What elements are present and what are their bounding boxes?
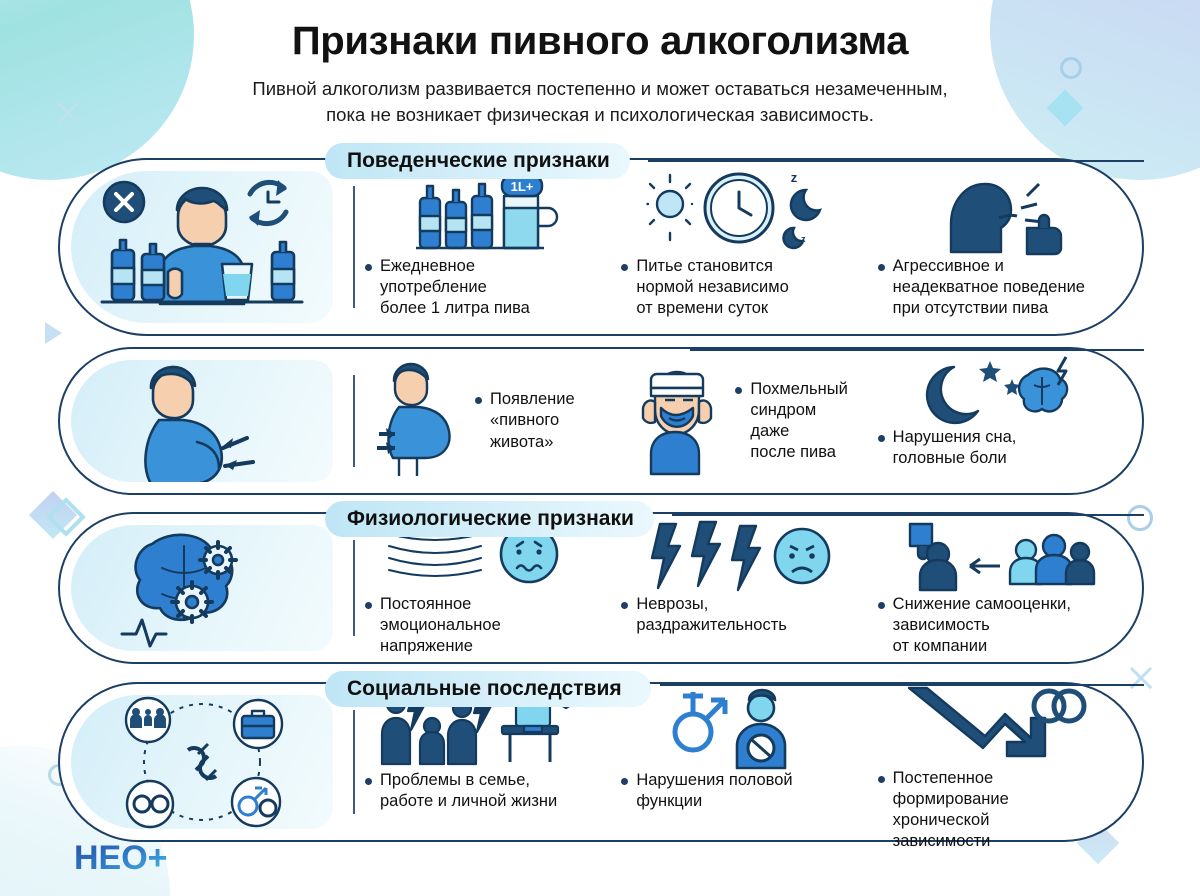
bullet-dot-icon bbox=[621, 778, 628, 785]
bullet-text: Питье становится нормой независимо от вр… bbox=[636, 256, 788, 319]
bullet-dot-icon bbox=[735, 387, 742, 394]
section-columns-behavioral: 1L+ Ежедневное употребление более 1 литр… bbox=[355, 160, 1142, 334]
logo-text: НЕО+ bbox=[74, 839, 168, 877]
list-item: Неврозы, раздражительность bbox=[611, 514, 867, 662]
list-item: Появление «пивного живота» bbox=[355, 349, 611, 493]
man-with-beer-bottles-and-repeat-cycle-illustration bbox=[82, 172, 322, 322]
section-title-behavioral: Поведенческие признаки bbox=[325, 143, 630, 179]
bullet-text: Нарушения половой функции bbox=[636, 770, 792, 812]
hangover-headache-man-icon bbox=[621, 362, 729, 480]
lightning-angry-face-icon bbox=[644, 518, 834, 594]
bullet-dot-icon bbox=[878, 776, 885, 783]
list-item: Агрессивное и неадекватное поведение при… bbox=[868, 160, 1124, 334]
sleep-z-badge-label: z bbox=[791, 170, 798, 185]
bullet-item: Проблемы в семье, работе и личной жизни bbox=[365, 770, 557, 812]
list-item: Нарушения половой функции bbox=[611, 684, 867, 840]
gender-symbol-blocked-person-icon bbox=[649, 686, 829, 770]
beer-bottles-and-one-liter-mug-icon: 1L+ bbox=[408, 168, 558, 256]
bullet-dot-icon bbox=[475, 397, 482, 404]
section-rule-psychological bbox=[672, 514, 1144, 516]
bullet-text: Неврозы, раздражительность bbox=[636, 594, 787, 636]
infographic-page: Признаки пивного алкоголизма Пивной алко… bbox=[0, 0, 1200, 896]
bullet-item: Ежедневное употребление более 1 литра пи… bbox=[365, 256, 530, 319]
section-rule-physiological bbox=[690, 349, 1144, 351]
moon-stars-brain-icon bbox=[916, 351, 1076, 427]
bullet-text: Появление «пивного живота» bbox=[490, 389, 575, 452]
section-illustration-physiological bbox=[71, 360, 333, 482]
section-rule-social bbox=[660, 684, 1144, 686]
bullet-text: Похмельный синдром даже после пива bbox=[750, 379, 857, 463]
bullet-dot-icon bbox=[878, 264, 885, 271]
list-item: Нарушения сна, головные боли bbox=[868, 349, 1124, 493]
bullet-item: Неврозы, раздражительность bbox=[621, 594, 787, 636]
bullet-text: Постепенное формирование хронической зав… bbox=[893, 768, 1009, 852]
bullet-dot-icon bbox=[878, 602, 885, 609]
clock-day-night-icon: z z bbox=[644, 166, 834, 256]
bullet-text: Постоянное эмоциональное напряжение bbox=[380, 594, 501, 657]
bullet-text: Агрессивное и неадекватное поведение при… bbox=[893, 256, 1085, 319]
brain-with-gears-and-pulse-illustration bbox=[92, 525, 312, 651]
list-item: z z Питье становится нормой независимо о… bbox=[611, 160, 867, 334]
bullet-text: Снижение самооценки, зависимость от комп… bbox=[893, 594, 1071, 657]
section-illustration-psychological bbox=[71, 525, 333, 651]
list-item: Постепенное формирование хронической зав… bbox=[868, 684, 1124, 840]
bullet-item: Нарушения сна, головные боли bbox=[878, 427, 1017, 469]
section-columns-physiological: Появление «пивного живота» bbox=[355, 349, 1142, 493]
beer-belly-profile-icon bbox=[365, 362, 469, 480]
bullet-dot-icon bbox=[878, 435, 885, 442]
bullet-item: Питье становится нормой независимо от вр… bbox=[621, 256, 788, 319]
one-liter-badge-label: 1L+ bbox=[511, 179, 534, 194]
bullet-dot-icon bbox=[621, 264, 628, 271]
neo-plus-logo-icon: НЕО+ bbox=[74, 838, 194, 878]
page-subtitle-line-1: Пивной алкоголизм развивается постепенно… bbox=[0, 76, 1200, 102]
bullet-item: Нарушения половой функции bbox=[621, 770, 792, 812]
page-header: Признаки пивного алкоголизма Пивной алко… bbox=[0, 18, 1200, 129]
section-illustration-social bbox=[71, 695, 333, 829]
page-subtitle: Пивной алкоголизм развивается постепенно… bbox=[0, 76, 1200, 129]
shouting-man-with-fist-icon bbox=[921, 166, 1071, 256]
list-item: STOP Проблемы в семье, работе и личной ж… bbox=[355, 684, 611, 840]
bullet-text: Нарушения сна, головные боли bbox=[893, 427, 1017, 469]
bullet-item: Появление «пивного живота» bbox=[475, 389, 575, 452]
bullet-item: Агрессивное и неадекватное поведение при… bbox=[878, 256, 1085, 319]
bullet-item: Постепенное формирование хронической зав… bbox=[878, 768, 1009, 852]
broken-chain-family-work-handcuffs-illustration bbox=[92, 695, 312, 829]
list-item: Снижение самооценки, зависимость от комп… bbox=[868, 514, 1124, 662]
bullet-dot-icon bbox=[621, 602, 628, 609]
bullet-text: Ежедневное употребление более 1 литра пи… bbox=[380, 256, 530, 319]
section-title-physiological: Физиологические признаки bbox=[325, 501, 654, 537]
section-card-behavioral: 1L+ Ежедневное употребление более 1 литр… bbox=[58, 158, 1144, 336]
bullet-item: Снижение самооценки, зависимость от комп… bbox=[878, 594, 1071, 657]
section-title-social: Социальные последствия bbox=[347, 677, 622, 701]
brand-logo: НЕО+ bbox=[74, 838, 194, 878]
section-card-physiological: Появление «пивного живота» bbox=[58, 347, 1144, 495]
list-item: 1L+ Ежедневное употребление более 1 литр… bbox=[355, 160, 611, 334]
section-columns-social: STOP Проблемы в семье, работе и личной ж… bbox=[355, 684, 1142, 840]
bullet-dot-icon bbox=[365, 264, 372, 271]
bullet-text: Проблемы в семье, работе и личной жизни bbox=[380, 770, 557, 812]
bullet-item: Похмельный синдром даже после пива bbox=[735, 379, 857, 463]
section-title-social-pill: Социальные последствия bbox=[325, 671, 642, 707]
downward-arrow-chain-links-icon bbox=[901, 684, 1091, 768]
bullet-item: Постоянное эмоциональное напряжение bbox=[365, 594, 501, 657]
list-item: Похмельный синдром даже после пива bbox=[611, 349, 867, 493]
page-subtitle-line-2: пока не возникает физическая и психологи… bbox=[0, 102, 1200, 128]
page-title: Признаки пивного алкоголизма bbox=[0, 18, 1200, 64]
man-with-beer-belly-side-view-illustration bbox=[87, 360, 317, 482]
bullet-dot-icon bbox=[365, 602, 372, 609]
thumbs-down-person-group-icon bbox=[896, 518, 1096, 594]
sleep-z-small-icon: z bbox=[801, 234, 806, 244]
section-illustration-behavioral bbox=[71, 171, 333, 323]
section-rule-behavioral bbox=[648, 160, 1144, 162]
bullet-dot-icon bbox=[365, 778, 372, 785]
